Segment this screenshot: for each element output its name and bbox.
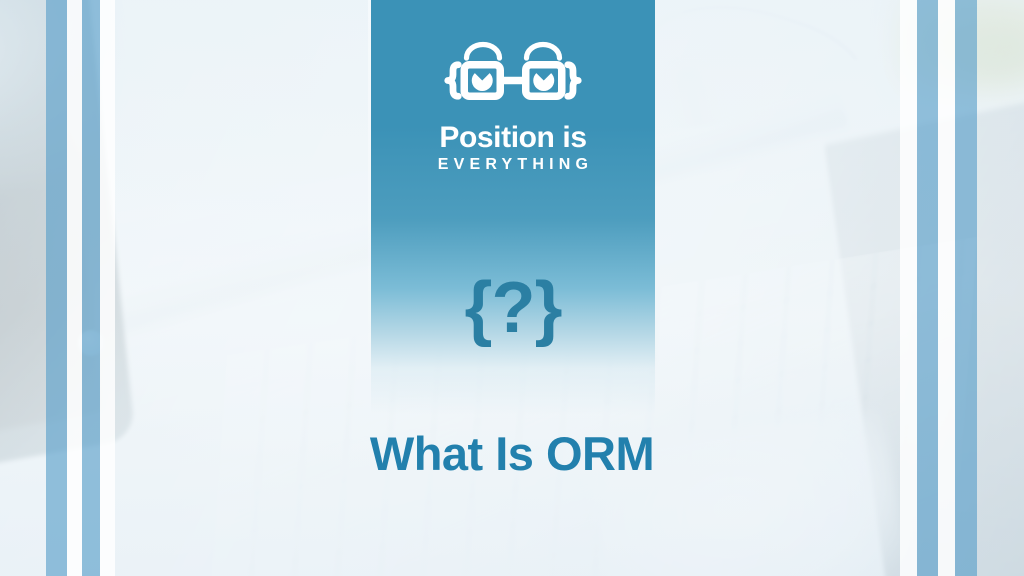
code-question-symbol: {?} bbox=[371, 272, 655, 344]
page-title: What Is ORM bbox=[0, 428, 1024, 480]
brand-name-line2: EVERYTHING bbox=[371, 155, 655, 174]
brand-logo: Position is EVERYTHING bbox=[371, 40, 655, 174]
slide-canvas: Position is EVERYTHING {?} What Is ORM bbox=[0, 0, 1024, 576]
brand-name-line1: Position is bbox=[371, 123, 655, 154]
braces-glasses-icon bbox=[438, 40, 588, 115]
